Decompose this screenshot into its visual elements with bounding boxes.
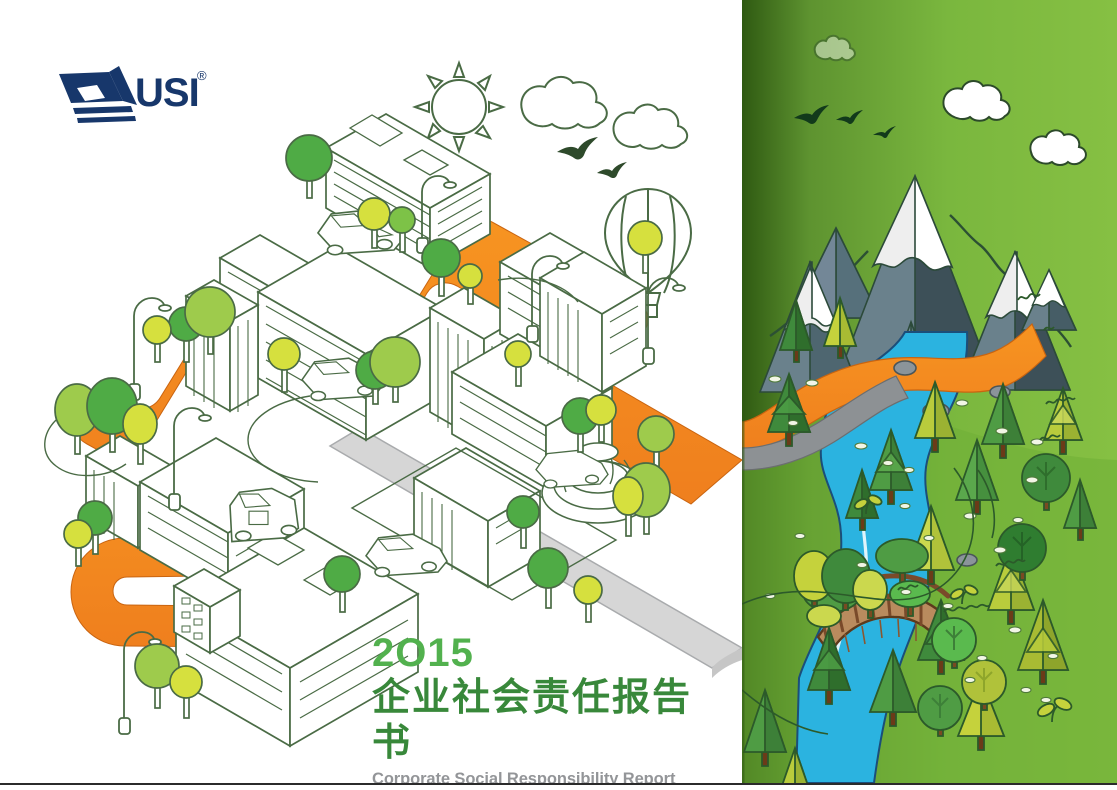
report-title-cn: 企业社会责任报告书 [372,675,712,765]
spine-edge [742,0,745,783]
report-cover-page: USI ® 2O15 企业社会责任报告书 Corporate Social Re… [0,0,1117,790]
registered-trademark-icon: ® [197,68,207,83]
bottom-rule [0,783,1117,790]
cover-title-block: 2O15 企业社会责任报告书 Corporate Social Responsi… [372,632,712,789]
usi-logo: USI ® [57,58,209,128]
usi-wordmark: USI [135,71,199,115]
report-year: 2O15 [372,632,712,674]
green-nature-panel [742,0,1117,790]
